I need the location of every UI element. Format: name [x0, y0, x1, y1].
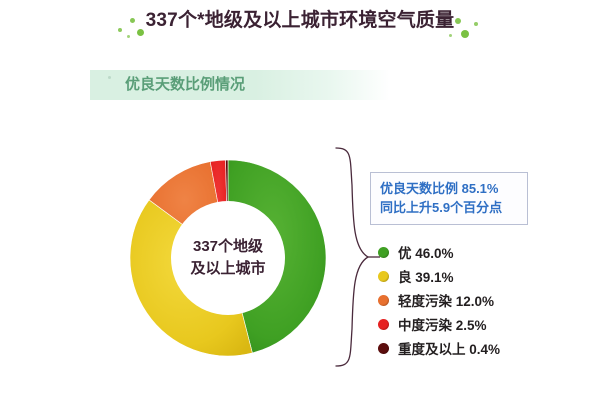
title-row: 337个*地级及以上城市环境空气质量	[0, 6, 600, 36]
legend-item-label: 轻度污染 12.0%	[398, 290, 494, 310]
legend-item[interactable]: 重度及以上 0.4%	[378, 336, 593, 360]
decorative-dot-icon	[474, 22, 478, 26]
legend-item-label: 良 39.1%	[398, 266, 454, 286]
callout-line-1: 优良天数比例 85.1%	[380, 179, 519, 198]
legend-item[interactable]: 优 46.0%	[378, 240, 593, 264]
legend-color-dot-icon	[378, 319, 389, 330]
callout-line-2: 同比上升5.9个百分点	[380, 198, 519, 217]
legend-item[interactable]: 轻度污染 12.0%	[378, 288, 593, 312]
donut-chart: 337个地级 及以上城市	[128, 158, 328, 358]
infographic-root: 337个*地级及以上城市环境空气质量 优良天数比例情况	[0, 0, 600, 400]
decorative-dot-icon	[455, 18, 461, 24]
callout-box: 优良天数比例 85.1% 同比上升5.9个百分点	[370, 172, 528, 225]
legend-color-dot-icon	[378, 247, 389, 258]
chart-legend: 优 46.0%良 39.1%轻度污染 12.0%中度污染 2.5%重度及以上 0…	[378, 240, 593, 360]
legend-item-label: 重度及以上 0.4%	[398, 338, 500, 358]
decorative-dot-icon	[449, 34, 452, 37]
band-sparkle-icon	[108, 76, 111, 79]
legend-item-label: 优 46.0%	[398, 242, 454, 262]
section-title: 优良天数比例情况	[125, 70, 245, 100]
legend-color-dot-icon	[378, 343, 389, 354]
legend-color-dot-icon	[378, 271, 389, 282]
legend-item[interactable]: 良 39.1%	[378, 264, 593, 288]
donut-svg	[128, 158, 328, 358]
legend-color-dot-icon	[378, 295, 389, 306]
legend-item[interactable]: 中度污染 2.5%	[378, 312, 593, 336]
donut-hole	[171, 201, 285, 315]
decorative-dot-icon	[461, 30, 469, 38]
legend-item-label: 中度污染 2.5%	[398, 314, 487, 334]
page-title: 337个*地级及以上城市环境空气质量	[0, 6, 600, 36]
